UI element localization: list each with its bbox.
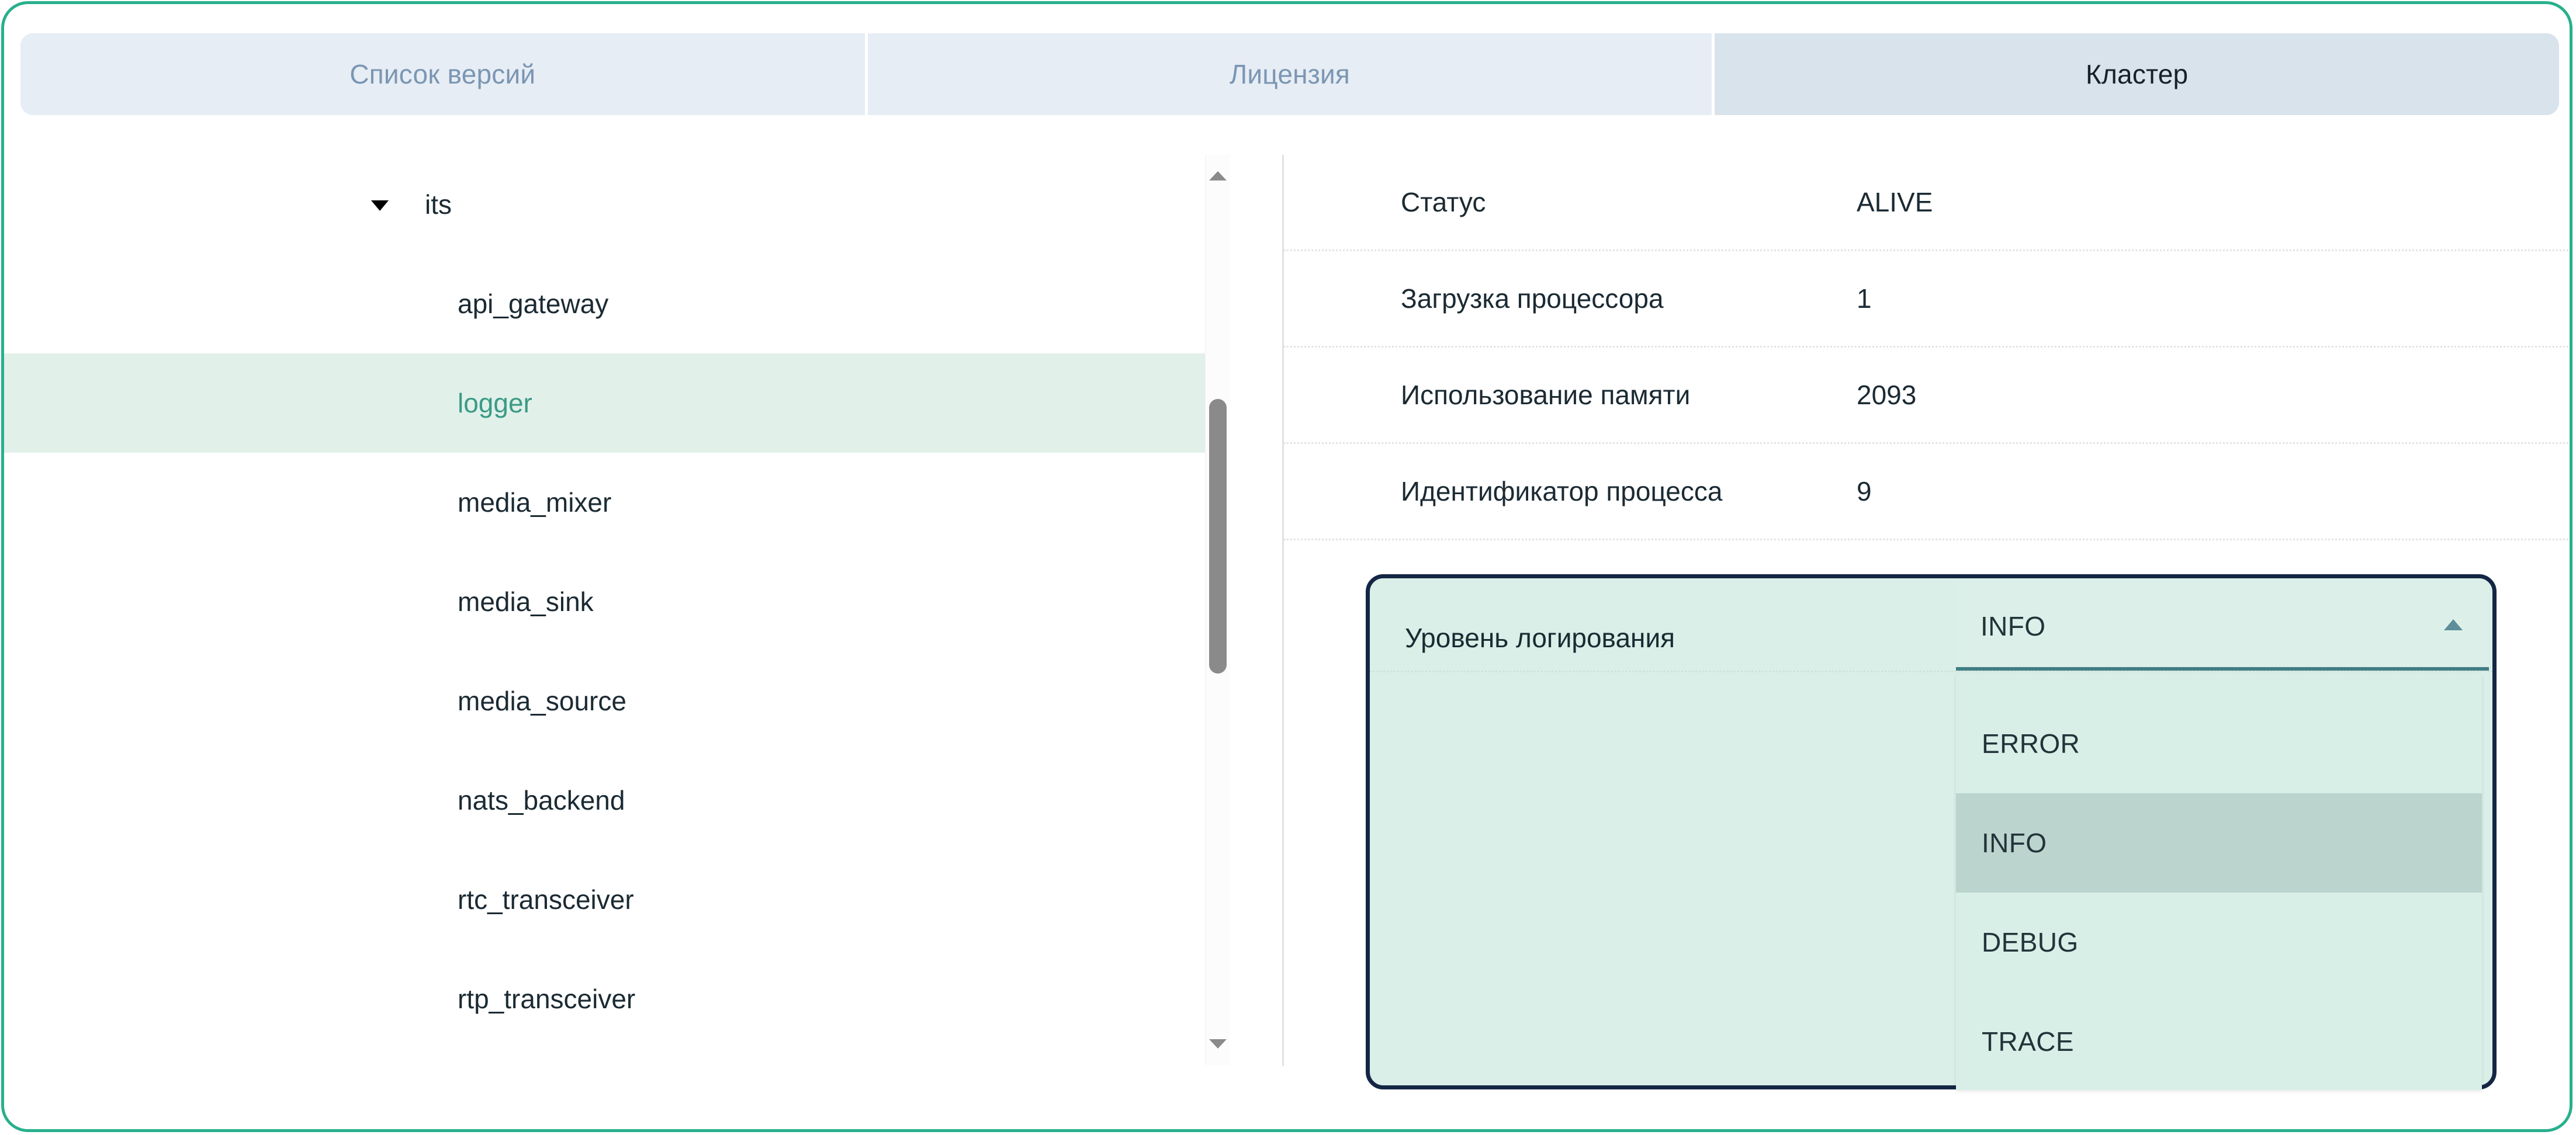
tree-row-rtc-transceiver[interactable]: rtc_transceiver — [4, 850, 1208, 949]
detail-label: Использование памяти — [1284, 379, 1857, 411]
detail-row-status: Статус ALIVE — [1284, 155, 2572, 251]
tree-row-nats-backend[interactable]: nats_backend — [4, 751, 1208, 850]
tab-version-list-label: Список версий — [349, 58, 535, 90]
log-level-option-label: ERROR — [1982, 728, 2080, 759]
log-level-label: Уровень логирования — [1405, 622, 1675, 654]
detail-value: 1 — [1857, 283, 1872, 314]
detail-value: 2093 — [1857, 379, 1916, 411]
log-level-option-info[interactable]: INFO — [1956, 793, 2482, 893]
service-tree-viewport: its api_gateway logger media_mixer media… — [4, 155, 1208, 1054]
log-level-dropdown-menu[interactable]: ERROR INFO DEBUG TRACE — [1956, 674, 2482, 1090]
content-area: its api_gateway logger media_mixer media… — [4, 155, 2572, 1130]
detail-row-process-id: Идентификатор процесса 9 — [1284, 444, 2572, 540]
tree-row-media-mixer[interactable]: media_mixer — [4, 453, 1208, 552]
log-level-option-label: DEBUG — [1982, 926, 2079, 958]
tree-row-rtp-transceiver[interactable]: rtp_transceiver — [4, 949, 1208, 1049]
tab-cluster-label: Кластер — [2086, 58, 2188, 90]
chevron-down-icon[interactable] — [1209, 1038, 1227, 1051]
log-level-option-label: TRACE — [1982, 1026, 2074, 1057]
chevron-up-icon[interactable] — [1209, 169, 1227, 182]
tree-row-media-source[interactable]: media_source — [4, 651, 1208, 751]
tab-cluster[interactable]: Кластер — [1715, 33, 2559, 115]
log-level-select[interactable]: INFO — [1956, 583, 2489, 671]
log-level-option-trace[interactable]: TRACE — [1956, 992, 2482, 1090]
service-tree-panel: its api_gateway logger media_mixer media… — [4, 155, 1284, 1066]
detail-label: Загрузка процессора — [1284, 283, 1857, 314]
detail-label: Статус — [1284, 186, 1857, 218]
tab-license[interactable]: Лицензия — [868, 33, 1715, 115]
tree-item-label: media_sink — [110, 586, 594, 617]
tree-item-label: api_gateway — [110, 288, 608, 320]
tree-item-label: rtp_transceiver — [110, 983, 635, 1015]
tree-scrollbar[interactable] — [1205, 155, 1230, 1065]
tree-row-media-sink[interactable]: media_sink — [4, 552, 1208, 651]
tab-license-label: Лицензия — [1230, 58, 1350, 90]
log-level-selected-value: INFO — [1981, 610, 2045, 642]
caret-down-icon[interactable] — [366, 191, 393, 218]
detail-label: Идентификатор процесса — [1284, 475, 1857, 507]
app-window: Список версий Лицензия Кластер its api_g… — [1, 1, 2572, 1132]
tree-item-label: rtc_transceiver — [110, 884, 634, 915]
detail-row-log-level[interactable]: Уровень логирования INFO ERROR INFO — [1366, 574, 2497, 1089]
tree-item-label: nats_backend — [110, 785, 625, 816]
tab-version-list[interactable]: Список версий — [20, 33, 868, 115]
tree-row-root-its[interactable]: its — [4, 155, 1208, 254]
detail-row-cpu-usage: Загрузка процессора 1 — [1284, 251, 2572, 348]
caret-up-icon[interactable] — [2443, 618, 2463, 631]
detail-row-memory-usage: Использование памяти 2093 — [1284, 348, 2572, 444]
tab-bar: Список версий Лицензия Кластер — [20, 33, 2559, 115]
detail-value: 9 — [1857, 475, 1872, 507]
status-badge: ALIVE — [1857, 186, 1933, 218]
tree-row-logger[interactable]: logger — [4, 353, 1208, 453]
log-level-row-divider — [1370, 671, 2492, 672]
log-level-option-error[interactable]: ERROR — [1956, 674, 2482, 793]
tree-item-label: media_source — [110, 685, 626, 717]
tree-scrollbar-thumb[interactable] — [1209, 399, 1227, 674]
node-details-panel: Статус ALIVE Загрузка процессора 1 Испол… — [1284, 155, 2572, 1130]
tree-item-label: logger — [110, 387, 532, 419]
tree-root-label: its — [425, 189, 452, 220]
log-level-option-label: INFO — [1982, 827, 2047, 859]
tree-item-label: media_mixer — [110, 487, 611, 518]
tree-row-api-gateway[interactable]: api_gateway — [4, 254, 1208, 353]
log-level-option-debug[interactable]: DEBUG — [1956, 893, 2482, 992]
